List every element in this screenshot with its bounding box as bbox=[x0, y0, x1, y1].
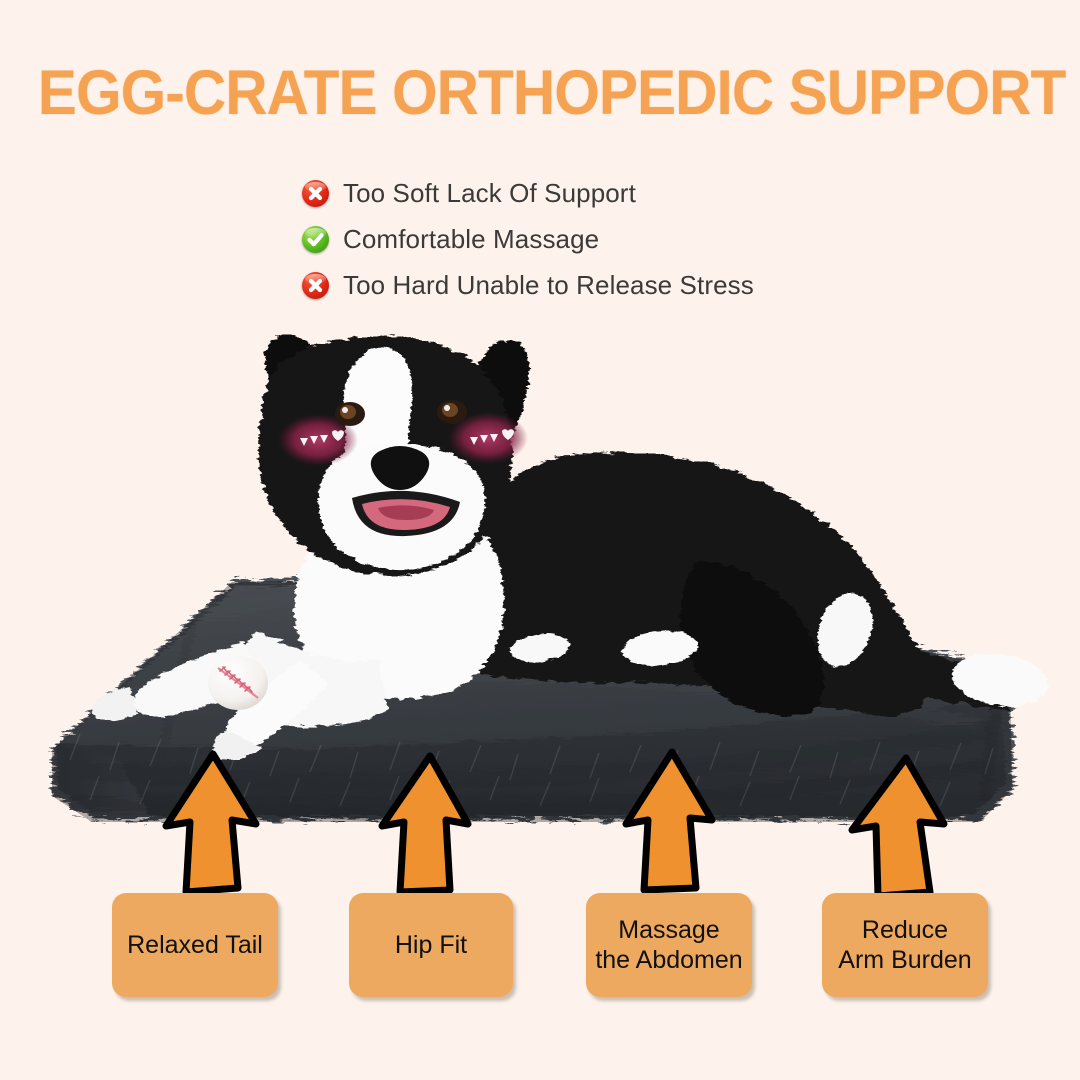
callout-arrows bbox=[0, 740, 1080, 910]
list-item: Comfortable Massage bbox=[302, 216, 754, 262]
up-arrow-icon bbox=[852, 758, 944, 896]
baseball-toy bbox=[206, 652, 270, 712]
dog bbox=[0, 330, 1080, 760]
list-item: Too Hard Unable to Release Stress bbox=[302, 262, 754, 308]
cross-circle-icon bbox=[302, 180, 329, 207]
page-title: EGG-CRATE ORTHOPEDIC SUPPORT bbox=[38, 57, 1042, 129]
list-item: Too Soft Lack Of Support bbox=[302, 170, 754, 216]
list-item-label: Comfortable Massage bbox=[343, 224, 599, 255]
up-arrow-icon bbox=[166, 754, 256, 892]
callout-box-massage-abdomen[interactable]: Massage the Abdomen bbox=[586, 893, 752, 997]
up-arrow-icon bbox=[626, 752, 712, 890]
cross-circle-icon bbox=[302, 272, 329, 299]
callout-labels: Relaxed Tail Hip Fit Massage the Abdomen… bbox=[0, 893, 1080, 1003]
product-infographic: EGG-CRATE ORTHOPEDIC SUPPORT Too Soft La… bbox=[0, 0, 1080, 1080]
callout-box-hip-fit[interactable]: Hip Fit bbox=[349, 893, 513, 997]
callout-label: Reduce Arm Burden bbox=[838, 915, 971, 976]
feature-list: Too Soft Lack Of Support Comfortable Mas… bbox=[302, 170, 754, 308]
callout-label: Relaxed Tail bbox=[127, 930, 263, 961]
list-item-label: Too Hard Unable to Release Stress bbox=[343, 270, 754, 301]
callout-label: Hip Fit bbox=[395, 930, 467, 961]
callout-label: Massage the Abdomen bbox=[595, 915, 742, 976]
list-item-label: Too Soft Lack Of Support bbox=[343, 178, 636, 209]
callout-box-reduce-arm-burden[interactable]: Reduce Arm Burden bbox=[822, 893, 988, 997]
check-circle-icon bbox=[302, 226, 329, 253]
up-arrow-icon bbox=[382, 756, 468, 892]
callout-box-relaxed-tail[interactable]: Relaxed Tail bbox=[112, 893, 278, 997]
